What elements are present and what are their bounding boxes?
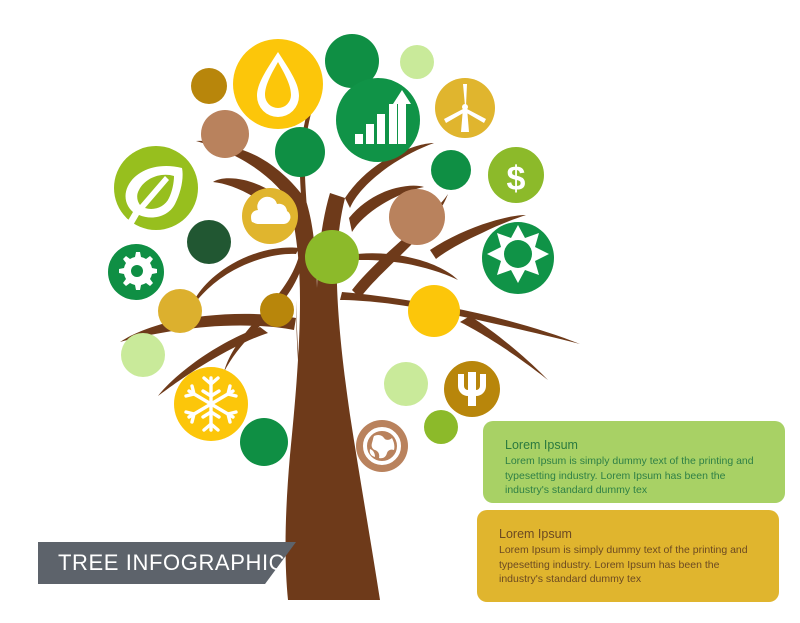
branch-right-lower xyxy=(340,292,580,344)
globe-icon[interactable] xyxy=(356,420,408,472)
leaf-dot xyxy=(240,418,288,466)
callout-title: Lorem Ipsum xyxy=(505,437,763,453)
leaf-dot xyxy=(400,45,434,79)
callout-card-yellow[interactable]: Lorem Ipsum Lorem Ipsum is simply dummy … xyxy=(477,510,779,602)
leaf-dot xyxy=(201,110,249,158)
growth-chart-icon[interactable] xyxy=(336,78,420,162)
leaf-dot xyxy=(424,410,458,444)
page-title: TREE INFOGRAPHIC xyxy=(58,542,285,584)
leaf-dot xyxy=(305,230,359,284)
leaf-dot xyxy=(389,189,445,245)
water-drop-icon[interactable] xyxy=(233,39,323,129)
leaf-dot xyxy=(158,289,202,333)
leaf-dot xyxy=(384,362,428,406)
cactus-icon[interactable] xyxy=(444,361,500,417)
leaf-dot xyxy=(275,127,325,177)
callout-body: Lorem Ipsum is simply dummy text of the … xyxy=(499,543,757,587)
leaf-dot xyxy=(260,293,294,327)
leaf-dot xyxy=(431,150,471,190)
gear-icon[interactable] xyxy=(108,244,164,300)
infographic-canvas: $ xyxy=(0,0,800,623)
title-banner: TREE INFOGRAPHIC xyxy=(38,542,296,584)
dollar-sign-icon[interactable]: $ xyxy=(488,147,544,203)
wind-turbine-icon[interactable] xyxy=(435,78,495,138)
sun-icon[interactable] xyxy=(482,222,554,294)
branch-right-mid xyxy=(344,253,458,280)
svg-text:$: $ xyxy=(507,160,526,198)
snowflake-icon[interactable] xyxy=(174,367,248,441)
callout-card-green[interactable]: Lorem Ipsum Lorem Ipsum is simply dummy … xyxy=(483,421,785,503)
leaf-dot xyxy=(408,285,460,337)
leaf-dot xyxy=(187,220,231,264)
leaf-dot xyxy=(121,333,165,377)
callout-body: Lorem Ipsum is simply dummy text of the … xyxy=(505,454,763,498)
callout-title: Lorem Ipsum xyxy=(499,526,757,542)
cloud-icon[interactable] xyxy=(242,188,298,244)
leaf-dot xyxy=(191,68,227,104)
leaf-icon[interactable] xyxy=(114,146,198,230)
